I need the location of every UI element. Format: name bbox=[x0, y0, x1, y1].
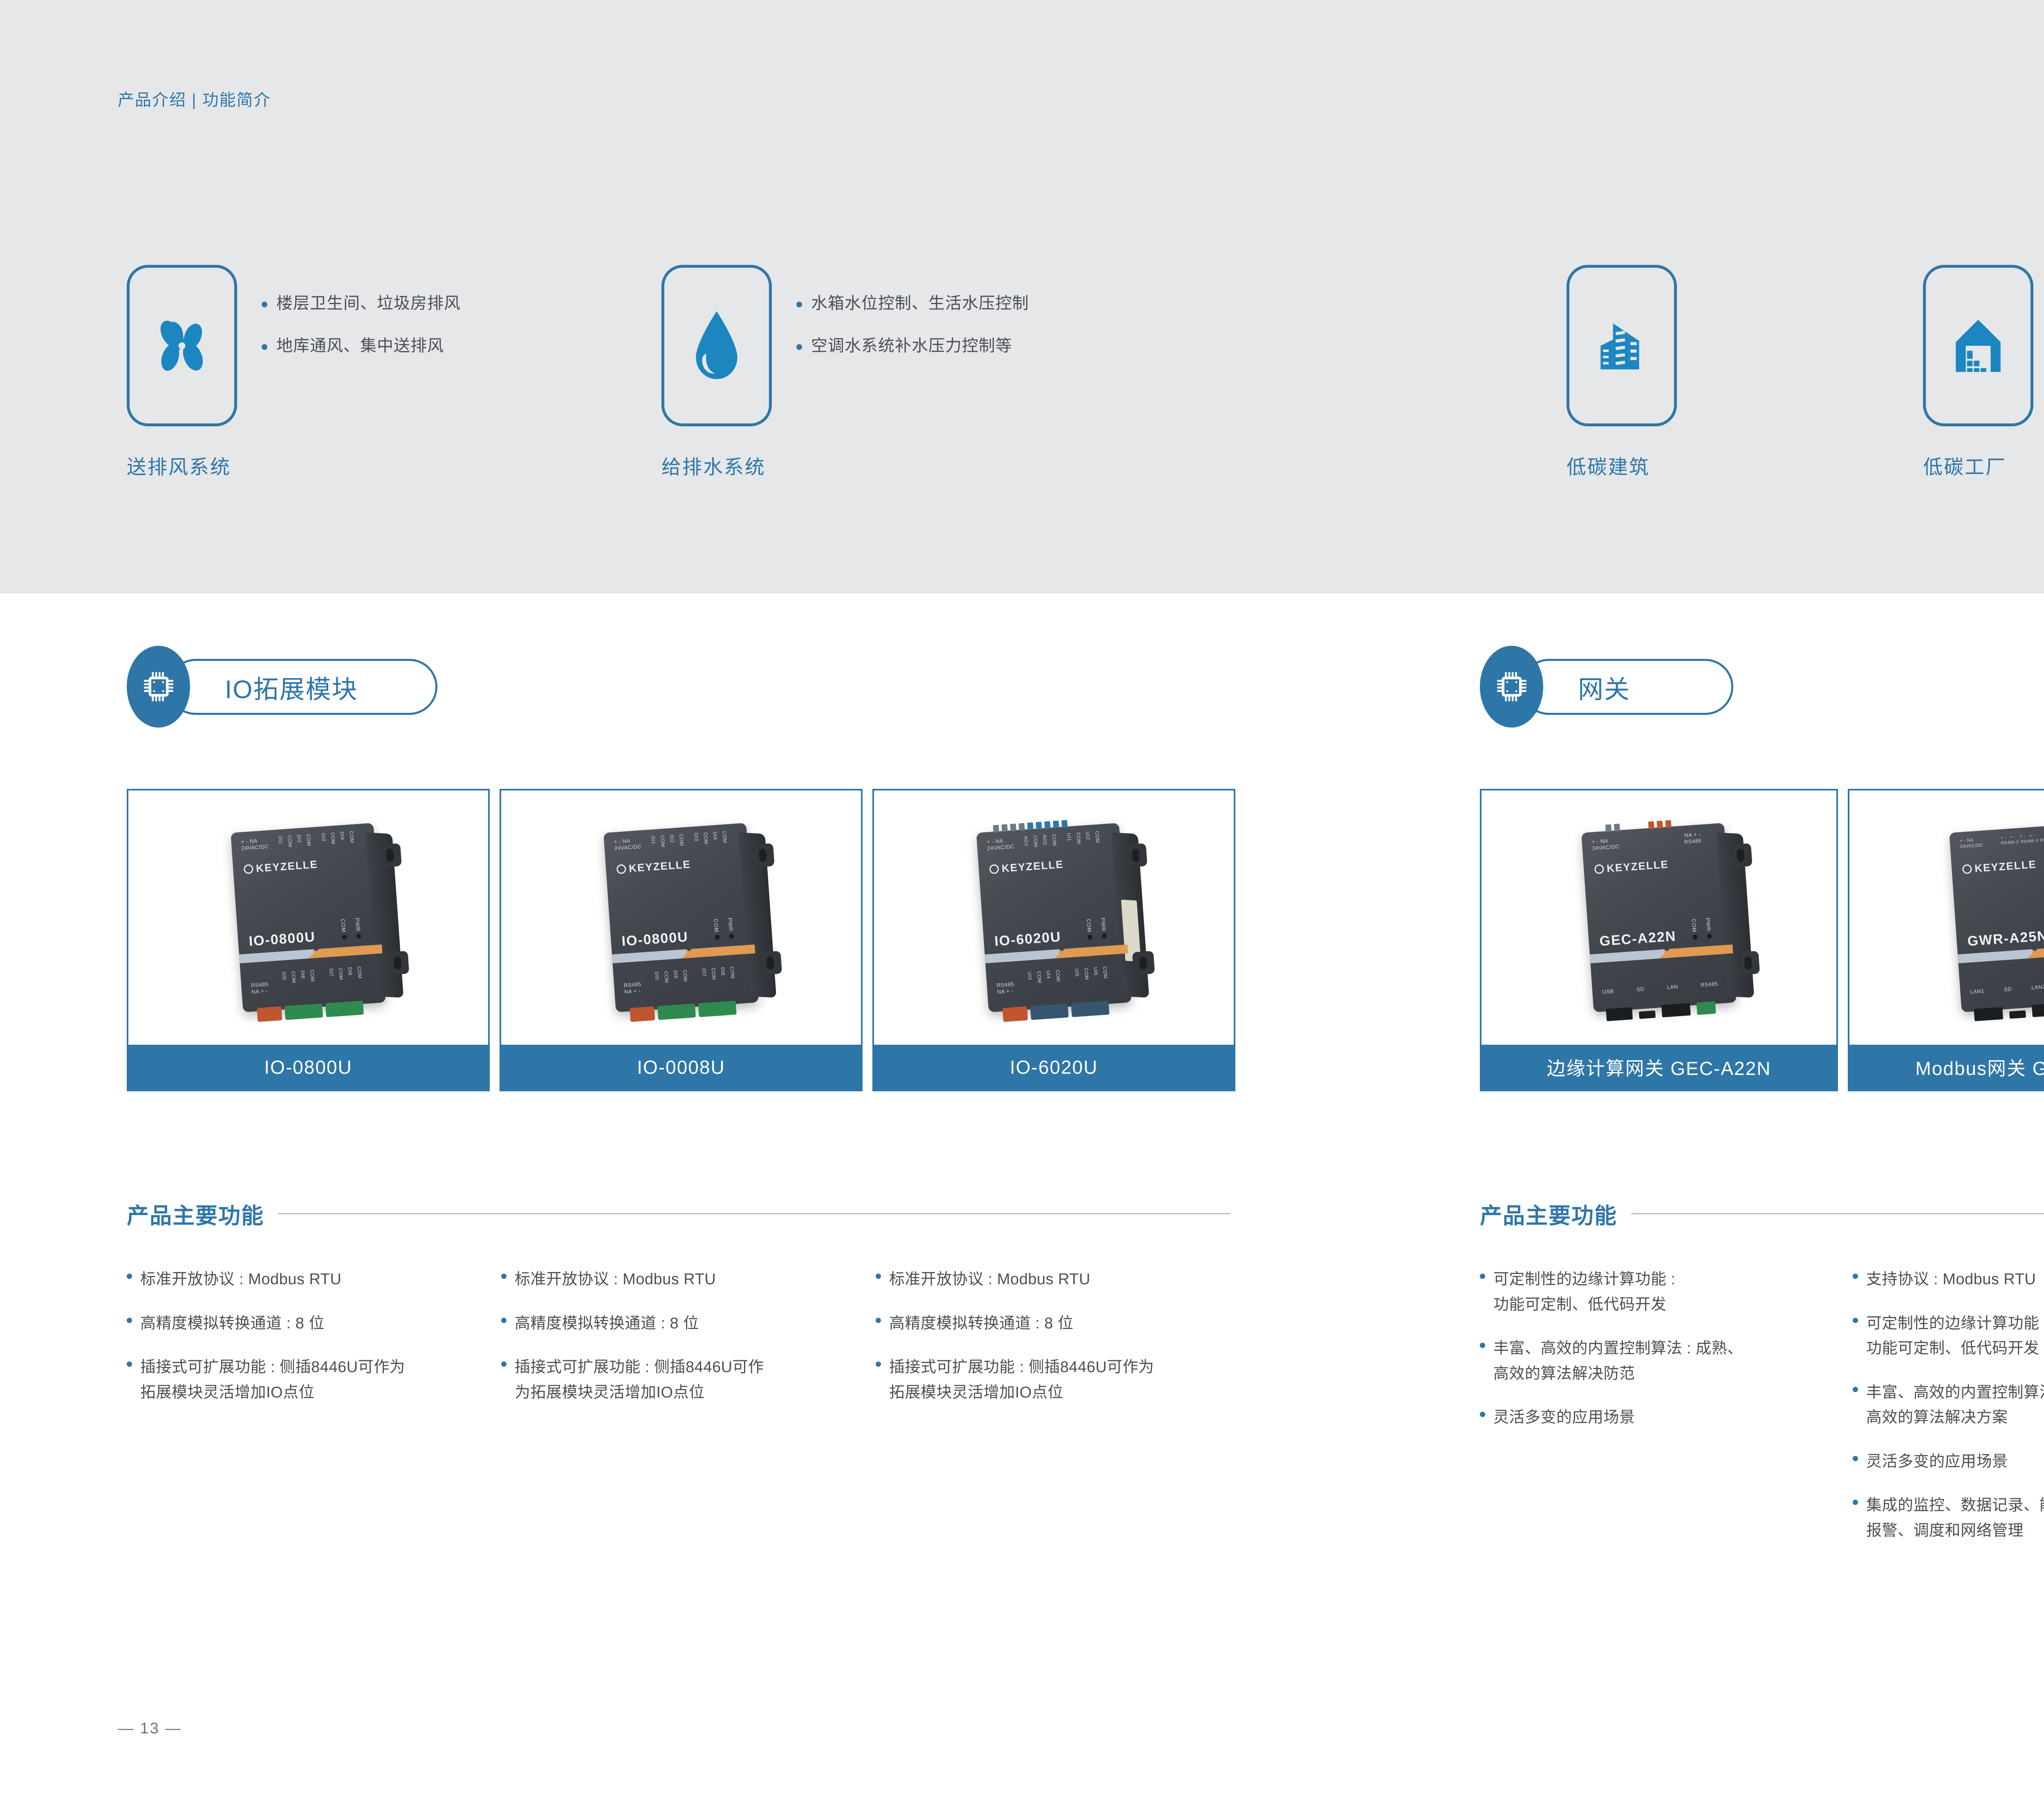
terminal-label: RS485-3 bbox=[2021, 838, 2039, 844]
device-model: IO-6020U bbox=[994, 929, 1062, 949]
bullet-item: 楼层卫生间、垃圾房排风 bbox=[262, 295, 461, 311]
terminal-label: COM bbox=[305, 834, 313, 855]
feature-item: 可定制性的边缘计算功能 : 功能可定制、低代码开发 bbox=[1853, 1311, 2044, 1361]
feature-item: 高精度模拟转换通道 : 8 位 bbox=[876, 1311, 1235, 1337]
scenario-caption: 低碳建筑 bbox=[1567, 451, 1650, 479]
bullet-dot bbox=[1853, 1456, 1858, 1461]
rs485-sub: NA + - bbox=[997, 987, 1015, 995]
led-label: COM bbox=[1690, 918, 1697, 932]
terminal-label: DI3 bbox=[693, 833, 701, 854]
feature-item: 集成的监控、数据记录、能耗计量、 报警、调度和网络管理 bbox=[1853, 1493, 2044, 1543]
scenario-low-carbon-factory: 低碳工厂 bbox=[1923, 265, 2033, 426]
product-card[interactable]: + - NA 24VAC/DC NA + - RS485 KEYZELLE GE… bbox=[1480, 789, 1838, 1091]
status-leds: COM PWR bbox=[1690, 918, 1712, 940]
chip-icon bbox=[127, 646, 190, 728]
product-caption: Modbus网关 GWR-A25N bbox=[1849, 1045, 2044, 1090]
bullet-dot bbox=[1480, 1274, 1485, 1279]
power-terminal-sub: 24VAC/DC bbox=[241, 844, 269, 852]
feature-line: 灵活多变的应用场景 bbox=[1866, 1449, 2008, 1475]
feature-line: 插接式可扩展功能 : 侧插8446U可作为 bbox=[140, 1355, 405, 1380]
terminal-label: DI3 bbox=[320, 833, 328, 854]
terminal-label: DI6 bbox=[300, 970, 307, 992]
features-heading-right: 产品主要功能 bbox=[1480, 1198, 2044, 1230]
bullet-dot bbox=[127, 1274, 132, 1279]
water-drop-icon-box bbox=[661, 265, 772, 426]
feature-line: 功能可定制、低代码开发 bbox=[1493, 1292, 1676, 1318]
feature-item: 丰富、高效的内置控制算法 : 成熟、 高效的算法解决方案 bbox=[1853, 1380, 2044, 1431]
rs485-sub: NA + - bbox=[624, 987, 642, 995]
terminal-label: COM bbox=[710, 967, 718, 989]
terminal-label: COM bbox=[682, 970, 689, 991]
led-label: COM bbox=[1085, 918, 1092, 932]
device-model: GEC-A22N bbox=[1599, 928, 1676, 949]
port-label: LAN2 bbox=[2031, 983, 2044, 991]
bullet-dot bbox=[1480, 1343, 1485, 1348]
terminal-label: COM bbox=[1102, 966, 1109, 988]
water-drop-icon bbox=[686, 309, 747, 383]
brand-name: KEYZELLE bbox=[1001, 858, 1064, 875]
section-title-label: IO拓展模块 bbox=[170, 669, 390, 705]
brand-ring-icon bbox=[1594, 864, 1605, 874]
led-label: COM bbox=[340, 918, 347, 932]
product-caption: IO-0800U bbox=[128, 1045, 488, 1090]
brand-ring-icon bbox=[1962, 864, 1972, 874]
terminal-label: DI2 bbox=[669, 835, 676, 856]
terminal-label: COM bbox=[356, 966, 364, 988]
terminal-label: COM bbox=[1055, 970, 1062, 991]
led-label: COM bbox=[713, 918, 719, 932]
device-model: GWR-A25N bbox=[1967, 928, 2044, 950]
feature-line: 高效的算法解决方案 bbox=[1866, 1405, 2044, 1431]
terminal-label: DI1 bbox=[650, 836, 657, 858]
feature-line: 集成的监控、数据记录、能耗计量、 bbox=[1866, 1493, 2044, 1518]
port-label: RS485 bbox=[1701, 981, 1718, 988]
terminal-label: COM bbox=[1094, 831, 1101, 853]
device-illustration: + - NA 24VAC/DC + - + - + - + - RS485-2 … bbox=[1949, 823, 2044, 1012]
feature-line: 丰富、高效的内置控制算法 : 成熟、 bbox=[1866, 1380, 2044, 1406]
terminal-connectors bbox=[257, 1001, 364, 1022]
terminal-label: COM bbox=[703, 832, 710, 854]
terminal-label: UI2 bbox=[1085, 831, 1092, 853]
product-caption: IO-6020U bbox=[874, 1045, 1234, 1090]
features-heading-text: 产品主要功能 bbox=[127, 1198, 264, 1230]
bullet-item: 水箱水位控制、生活水压控制 bbox=[796, 295, 1029, 311]
feature-item: 灵活多变的应用场景 bbox=[1480, 1405, 1838, 1431]
feature-item: 丰富、高效的内置控制算法 : 成熟、 高效的算法解决防范 bbox=[1480, 1336, 1838, 1386]
factory-icon bbox=[1947, 315, 2009, 377]
feature-line: 灵活多变的应用场景 bbox=[1493, 1405, 1635, 1431]
terminal-label: UI5 bbox=[1074, 968, 1081, 990]
feature-item: 插接式可扩展功能 : 侧插8446U可作为 拓展模块灵活增加IO点位 bbox=[127, 1355, 486, 1405]
scenario-ventilation: 楼层卫生间、垃圾房排风 地库通风、集中送排风 送排风系统 bbox=[127, 265, 237, 426]
bullet-dot bbox=[501, 1274, 507, 1279]
bullet-dot bbox=[262, 302, 267, 307]
terminal-label: COM bbox=[330, 832, 337, 854]
brand-logo: KEYZELLE bbox=[243, 858, 318, 876]
ventilation-bullets: 楼层卫生间、垃圾房排风 地库通风、集中送排风 bbox=[262, 295, 461, 380]
terminal-label: UI4 bbox=[1045, 970, 1053, 992]
feature-line: 高精度模拟转换通道 : 8 位 bbox=[889, 1311, 1074, 1337]
feature-line: 高精度模拟转换通道 : 8 位 bbox=[515, 1311, 699, 1337]
brand-ring-icon bbox=[616, 864, 627, 874]
chip-icon bbox=[1480, 646, 1543, 728]
port-label: LAN bbox=[1667, 983, 1678, 991]
brand-name: KEYZELLE bbox=[255, 858, 318, 875]
feature-line: 标准开放协议 : Modbus RTU bbox=[889, 1267, 1090, 1292]
product-image: + - NA 24VAC/DC DI1 COM DI2 COM DI3 COM bbox=[128, 790, 488, 1045]
bullet-dot bbox=[876, 1318, 881, 1323]
feature-line: 功能可定制、低代码开发 bbox=[1866, 1336, 2044, 1361]
device-ports bbox=[1606, 1001, 1716, 1021]
terminal-label: UI1 bbox=[1066, 833, 1074, 854]
bullet-dot bbox=[127, 1361, 132, 1367]
scenario-caption: 给排水系统 bbox=[661, 451, 766, 479]
terminal-label: DI2 bbox=[296, 835, 303, 856]
feature-line: 高效的算法解决防范 bbox=[1493, 1361, 1743, 1387]
product-card[interactable]: + - NA 24VAC/DC + - + - + - + - RS485-2 … bbox=[1848, 789, 2044, 1091]
device-ports bbox=[1974, 1001, 2044, 1021]
terminal-label: COM bbox=[1076, 832, 1083, 854]
terminal-label: COM bbox=[663, 971, 670, 992]
rs485-sub: NA + - bbox=[251, 987, 269, 995]
brand-ring-icon bbox=[989, 864, 1000, 874]
product-image: + - NA 24VAC/DC AO1 COM AO2 COM UI1 COM bbox=[874, 790, 1234, 1045]
features-columns-right: 可定制性的边缘计算功能 : 功能可定制、低代码开发 丰富、高效的内置控制算法 :… bbox=[1480, 1267, 2044, 1562]
pill-body: 网关 bbox=[1521, 659, 1733, 715]
bullet-item: 空调水系统补水压力控制等 bbox=[796, 338, 1029, 354]
terminal-label: COM bbox=[309, 970, 316, 991]
feature-line: 插接式可扩展功能 : 侧插8446U可作 bbox=[515, 1355, 764, 1380]
terminal-label: COM bbox=[287, 835, 294, 857]
device-model: IO-0800U bbox=[248, 929, 316, 949]
product-image: + - NA 24VAC/DC NA + - RS485 KEYZELLE GE… bbox=[1481, 790, 1836, 1045]
terminal-label: DI6 bbox=[672, 970, 680, 992]
led-label: PWR bbox=[727, 918, 734, 931]
heading-rule bbox=[1631, 1213, 2044, 1214]
feature-line: 拓展模块灵活增加IO点位 bbox=[889, 1380, 1154, 1406]
status-leds: COM PWR bbox=[340, 918, 361, 940]
power-terminal-sub: 24VAC/DC bbox=[1960, 843, 1983, 850]
factory-icon-box bbox=[1923, 265, 2033, 426]
terminal-label: COM bbox=[678, 834, 686, 855]
power-terminal-sub: 24VAC/DC bbox=[1592, 844, 1620, 852]
terminal-label: COM bbox=[659, 835, 667, 857]
feature-line: 高精度模拟转换通道 : 8 位 bbox=[140, 1311, 325, 1337]
terminal-label: COM bbox=[290, 971, 298, 992]
top-comb-connector bbox=[993, 820, 1068, 833]
feature-line: 拓展模块灵活增加IO点位 bbox=[140, 1380, 405, 1406]
terminal-label: COM bbox=[729, 966, 737, 988]
led-label: PWR bbox=[1705, 918, 1712, 931]
features-heading-text: 产品主要功能 bbox=[1480, 1198, 1617, 1230]
product-card[interactable]: + - NA 24VAC/DC DI1 COM DI2 COM DI3 COM bbox=[500, 789, 863, 1091]
brand-logo: KEYZELLE bbox=[1594, 858, 1669, 876]
terminal-label: COM bbox=[721, 831, 728, 853]
water-supply-bullets: 水箱水位控制、生活水压控制 空调水系统补水压力控制等 bbox=[796, 295, 1029, 380]
heading-rule bbox=[278, 1213, 1230, 1214]
brand-name: KEYZELLE bbox=[1606, 858, 1669, 875]
features-heading-left: 产品主要功能 bbox=[127, 1198, 1230, 1230]
power-terminal-sub: 24VAC/DC bbox=[987, 844, 1015, 852]
scenario-caption: 送排风系统 bbox=[127, 451, 231, 479]
application-scenarios: 楼层卫生间、垃圾房排风 地库通风、集中送排风 送排风系统 水箱水位控制、生活水压… bbox=[0, 0, 2044, 593]
terminal-label: DI8 bbox=[720, 967, 727, 989]
feature-item: 灵活多变的应用场景 bbox=[1853, 1449, 2044, 1475]
fan-icon bbox=[148, 311, 216, 380]
bullet-dot bbox=[796, 302, 802, 307]
feature-line: 丰富、高效的内置控制算法 : 成熟、 bbox=[1493, 1336, 1743, 1361]
brand-ring-icon bbox=[244, 864, 254, 874]
terminal-label: DI1 bbox=[277, 836, 285, 858]
rs485-sub: RS485 bbox=[1684, 838, 1701, 846]
terminal-label: COM bbox=[1083, 967, 1091, 989]
section-title-gateways: 网关 bbox=[1480, 646, 1733, 728]
brand-logo: KEYZELLE bbox=[1962, 858, 2037, 876]
brand-name: KEYZELLE bbox=[628, 858, 691, 875]
feature-line: 插接式可扩展功能 : 侧插8446U可作为 bbox=[889, 1355, 1154, 1380]
bullet-dot bbox=[501, 1318, 507, 1323]
terminal-label: AO2 bbox=[1042, 835, 1049, 856]
section-title-label: 网关 bbox=[1523, 669, 1663, 705]
product-caption: IO-0008U bbox=[501, 1045, 861, 1090]
bullet-dot bbox=[1853, 1500, 1858, 1505]
feature-item: 标准开放协议 : Modbus RTU bbox=[876, 1267, 1235, 1292]
port-label: SD bbox=[2004, 986, 2012, 993]
terminal-label: AO1 bbox=[1023, 836, 1030, 858]
fan-icon-box bbox=[127, 265, 237, 426]
office-building-icon bbox=[1591, 315, 1653, 377]
section-title-io-modules: IO拓展模块 bbox=[127, 646, 437, 728]
bullet-dot bbox=[876, 1361, 881, 1367]
feature-line: 为拓展模块灵活增加IO点位 bbox=[515, 1380, 764, 1406]
terminal-label: DI7 bbox=[328, 968, 336, 990]
bullet-item: 地库通风、集中送排风 bbox=[262, 338, 461, 354]
feature-column: 标准开放协议 : Modbus RTU 高精度模拟转换通道 : 8 位 插接式可… bbox=[876, 1267, 1235, 1424]
terminal-label: RS485-4 bbox=[2040, 837, 2044, 843]
product-card[interactable]: + - NA 24VAC/DC AO1 COM AO2 COM UI1 COM bbox=[872, 789, 1235, 1091]
status-leds: COM PWR bbox=[713, 918, 734, 940]
brand-logo: KEYZELLE bbox=[616, 858, 691, 876]
terminal-label: COM bbox=[1036, 971, 1043, 992]
bullet-dot bbox=[1480, 1412, 1485, 1417]
office-building-icon-box bbox=[1567, 265, 1677, 426]
port-label: USB bbox=[1602, 988, 1614, 995]
bullet-dot bbox=[1853, 1274, 1858, 1279]
scenario-water-supply: 水箱水位控制、生活水压控制 空调水系统补水压力控制等 给排水系统 bbox=[661, 265, 772, 426]
device-illustration: + - NA 24VAC/DC AO1 COM AO2 COM UI1 COM bbox=[976, 823, 1132, 1012]
bullet-text: 空调水系统补水压力控制等 bbox=[811, 338, 1012, 354]
terminal-label: DI4 bbox=[712, 831, 719, 853]
feature-item: 支持协议 : Modbus RTU bbox=[1853, 1267, 2044, 1292]
terminal-label: UI6 bbox=[1093, 967, 1100, 989]
bullet-text: 水箱水位控制、生活水压控制 bbox=[811, 295, 1029, 311]
bullet-dot bbox=[876, 1274, 881, 1279]
terminal-label: UI3 bbox=[1026, 972, 1034, 993]
feature-item: 高精度模拟转换通道 : 8 位 bbox=[501, 1311, 861, 1337]
bullet-text: 楼层卫生间、垃圾房排风 bbox=[276, 295, 461, 311]
pill-body: IO拓展模块 bbox=[168, 659, 437, 715]
brand-logo: KEYZELLE bbox=[989, 858, 1064, 876]
page-number-left: — 13 — bbox=[118, 1720, 182, 1738]
scenario-caption: 低碳工厂 bbox=[1923, 451, 2006, 479]
bullet-dot bbox=[1853, 1387, 1858, 1392]
feature-item: 可定制性的边缘计算功能 : 功能可定制、低代码开发 bbox=[1480, 1267, 1838, 1317]
scenario-low-carbon-building: 低碳建筑 bbox=[1567, 265, 1677, 426]
terminal-label: DI7 bbox=[701, 968, 708, 990]
device-model: IO-0800U bbox=[621, 929, 689, 949]
feature-line: 标准开放协议 : Modbus RTU bbox=[515, 1267, 716, 1292]
terminal-label: COM bbox=[348, 831, 356, 853]
feature-item: 插接式可扩展功能 : 侧插8446U可作 为拓展模块灵活增加IO点位 bbox=[501, 1355, 861, 1405]
feature-item: 插接式可扩展功能 : 侧插8446U可作为 拓展模块灵活增加IO点位 bbox=[876, 1355, 1235, 1405]
gateway-product-cards: + - NA 24VAC/DC NA + - RS485 KEYZELLE GE… bbox=[1480, 789, 2044, 1091]
device-illustration: + - NA 24VAC/DC NA + - RS485 KEYZELLE GE… bbox=[1581, 823, 1737, 1012]
feature-column: 支持协议 : Modbus RTU 可定制性的边缘计算功能 : 功能可定制、低代… bbox=[1853, 1267, 2044, 1562]
feature-line: 可定制性的边缘计算功能 : bbox=[1493, 1267, 1676, 1292]
bullet-dot bbox=[127, 1318, 132, 1323]
status-leds: COM PWR bbox=[1085, 918, 1107, 940]
bullet-text: 地库通风、集中送排风 bbox=[276, 338, 444, 354]
terminal-label: DI4 bbox=[339, 831, 347, 853]
feature-item: 标准开放协议 : Modbus RTU bbox=[501, 1267, 861, 1292]
terminal-label: DI5 bbox=[654, 972, 661, 993]
product-card[interactable]: + - NA 24VAC/DC DI1 COM DI2 COM DI3 COM bbox=[127, 789, 490, 1091]
feature-line: 支持协议 : Modbus RTU bbox=[1866, 1267, 2036, 1292]
product-caption: 边缘计算网关 GEC-A22N bbox=[1481, 1045, 1836, 1090]
bullet-dot bbox=[262, 344, 267, 350]
feature-item: 高精度模拟转换通道 : 8 位 bbox=[127, 1311, 486, 1337]
port-label: LAN1 bbox=[1970, 987, 1985, 995]
terminal-label: COM bbox=[1051, 834, 1058, 855]
top-comb-connector bbox=[1605, 820, 1672, 832]
feature-item: 标准开放协议 : Modbus RTU bbox=[127, 1267, 486, 1292]
bullet-dot bbox=[501, 1361, 507, 1367]
bullet-dot bbox=[796, 344, 802, 350]
terminal-label: DI8 bbox=[347, 967, 354, 989]
feature-column: 可定制性的边缘计算功能 : 功能可定制、低代码开发 丰富、高效的内置控制算法 :… bbox=[1480, 1267, 1838, 1562]
product-image: + - NA 24VAC/DC + - + - + - + - RS485-2 … bbox=[1849, 790, 2044, 1045]
features-columns-left: 标准开放协议 : Modbus RTU 高精度模拟转换通道 : 8 位 插接式可… bbox=[127, 1267, 1235, 1424]
feature-line: 报警、调度和网络管理 bbox=[1866, 1518, 2044, 1544]
bullet-dot bbox=[1853, 1318, 1858, 1323]
terminal-label: COM bbox=[1032, 835, 1040, 857]
product-image: + - NA 24VAC/DC DI1 COM DI2 COM DI3 COM bbox=[501, 790, 861, 1045]
terminal-label: RS485-2 bbox=[2001, 840, 2019, 846]
device-illustration: + - NA 24VAC/DC DI1 COM DI2 COM DI3 COM bbox=[603, 823, 759, 1012]
feature-line: 标准开放协议 : Modbus RTU bbox=[140, 1267, 341, 1292]
terminal-label: COM bbox=[338, 967, 345, 989]
terminal-connectors bbox=[630, 1001, 737, 1022]
io-product-cards: + - NA 24VAC/DC DI1 COM DI2 COM DI3 COM bbox=[127, 789, 1235, 1091]
feature-line: 可定制性的边缘计算功能 : bbox=[1866, 1311, 2044, 1337]
device-illustration: + - NA 24VAC/DC DI1 COM DI2 COM DI3 COM bbox=[231, 823, 386, 1012]
feature-column: 标准开放协议 : Modbus RTU 高精度模拟转换通道 : 8 位 插接式可… bbox=[501, 1267, 861, 1424]
power-terminal-sub: 24VAC/DC bbox=[614, 844, 642, 852]
port-label: SD bbox=[1636, 986, 1645, 993]
terminal-label: DI5 bbox=[281, 972, 288, 993]
led-label: PWR bbox=[1100, 918, 1107, 931]
brand-name: KEYZELLE bbox=[1974, 858, 2037, 875]
led-label: PWR bbox=[354, 918, 361, 931]
feature-column: 标准开放协议 : Modbus RTU 高精度模拟转换通道 : 8 位 插接式可… bbox=[127, 1267, 486, 1424]
terminal-connectors bbox=[1002, 1001, 1109, 1022]
